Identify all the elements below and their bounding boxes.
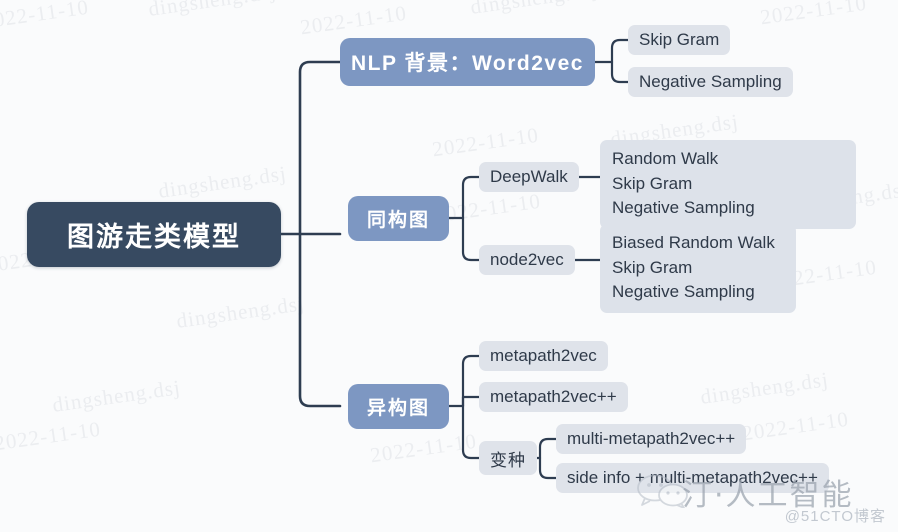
watermark-text: dingsheng.dsj bbox=[157, 161, 288, 204]
leaf-node-negative-sampling[interactable]: Negative Sampling bbox=[628, 67, 793, 97]
node-variants[interactable]: 变种 bbox=[479, 441, 537, 475]
watermark-text: 2022-11-10 bbox=[0, 0, 90, 34]
watermark-text: 2022-11-10 bbox=[299, 1, 409, 41]
connector-tonggou-to-deepwalk bbox=[463, 177, 479, 218]
connector-nlp-to-negsampling bbox=[612, 62, 628, 82]
watermark-text: dingsheng.dsj bbox=[469, 0, 600, 20]
node-node2vec[interactable]: node2vec bbox=[479, 245, 575, 275]
leaf-node-side-info-multi-metapath2vec-plusplus-label: side info + multi-metapath2vec++ bbox=[567, 468, 818, 488]
connector-bianzhong-to-multi bbox=[540, 439, 556, 458]
connector-nlp-to-skipgram bbox=[612, 40, 628, 62]
root-node-label: 图游走类模型 bbox=[67, 215, 241, 254]
detail-box-deepwalk[interactable]: Random Walk Skip Gram Negative Sampling bbox=[600, 140, 856, 229]
detail-line: Skip Gram bbox=[612, 172, 844, 197]
watermark-text: 2022-11-10 bbox=[369, 429, 479, 469]
leaf-node-negative-sampling-label: Negative Sampling bbox=[639, 72, 782, 92]
detail-line: Skip Gram bbox=[612, 256, 784, 281]
watermark-text: dingsheng.dsj bbox=[175, 291, 306, 334]
detail-line: Negative Sampling bbox=[612, 196, 844, 221]
detail-box-node2vec[interactable]: Biased Random Walk Skip Gram Negative Sa… bbox=[600, 224, 796, 313]
branch-node-nlp[interactable]: NLP 背景：Word2vec bbox=[340, 38, 595, 86]
leaf-node-side-info-multi-metapath2vec-plusplus[interactable]: side info + multi-metapath2vec++ bbox=[556, 463, 829, 493]
node-deepwalk[interactable]: DeepWalk bbox=[479, 162, 579, 192]
detail-line: Biased Random Walk bbox=[612, 231, 784, 256]
branch-node-homogeneous-graph-label: 同构图 bbox=[367, 205, 430, 232]
branch-node-nlp-label: NLP 背景：Word2vec bbox=[351, 47, 584, 77]
node-metapath2vec-plusplus[interactable]: metapath2vec++ bbox=[479, 382, 628, 412]
leaf-node-skip-gram[interactable]: Skip Gram bbox=[628, 25, 730, 55]
watermark-text: 2022-11-10 bbox=[759, 0, 869, 30]
leaf-node-skip-gram-label: Skip Gram bbox=[639, 30, 719, 50]
node-metapath2vec-label: metapath2vec bbox=[490, 346, 597, 366]
watermark-text: dingsheng.dsj bbox=[147, 0, 278, 22]
watermark-text: dingsheng.dsj bbox=[699, 367, 830, 410]
watermark-text: dingsheng.dsj bbox=[51, 375, 182, 418]
connector-tonggou-to-node2vec bbox=[463, 218, 479, 260]
connector-bianzhong-to-sideinfo bbox=[540, 458, 556, 478]
detail-line: Random Walk bbox=[612, 147, 844, 172]
connector-root-to-nlp bbox=[300, 62, 340, 234]
leaf-node-multi-metapath2vec-plusplus[interactable]: multi-metapath2vec++ bbox=[556, 424, 746, 454]
node-deepwalk-label: DeepWalk bbox=[490, 167, 568, 187]
site-watermark-label: @51CTO博客 bbox=[785, 505, 886, 526]
leaf-node-multi-metapath2vec-plusplus-label: multi-metapath2vec++ bbox=[567, 429, 735, 449]
connector-yigou-to-bianzhong bbox=[463, 406, 479, 458]
root-node[interactable]: 图游走类模型 bbox=[27, 202, 281, 267]
detail-line: Negative Sampling bbox=[612, 280, 784, 305]
branch-node-heterogeneous-graph[interactable]: 异构图 bbox=[348, 384, 449, 429]
watermark-text: 2022-11-10 bbox=[741, 407, 851, 447]
mindmap-canvas: 2022-11-10 dingsheng.dsj 2022-11-10 ding… bbox=[0, 0, 898, 532]
branch-node-homogeneous-graph[interactable]: 同构图 bbox=[348, 196, 449, 241]
connector-yigou-to-metapath2vec bbox=[463, 356, 479, 406]
connector-yigou-to-metapath2vecpp bbox=[463, 397, 479, 406]
watermark-text: 2022-11-10 bbox=[431, 123, 541, 163]
node-node2vec-label: node2vec bbox=[490, 250, 564, 270]
branch-node-heterogeneous-graph-label: 异构图 bbox=[367, 393, 430, 420]
connector-root-to-yigou bbox=[300, 234, 340, 406]
node-variants-label: 变种 bbox=[490, 446, 526, 471]
node-metapath2vec-plusplus-label: metapath2vec++ bbox=[490, 387, 617, 407]
watermark-text: 2022-11-10 bbox=[433, 189, 543, 229]
node-metapath2vec[interactable]: metapath2vec bbox=[479, 341, 608, 371]
watermark-text: 2022-11-10 bbox=[0, 417, 102, 457]
